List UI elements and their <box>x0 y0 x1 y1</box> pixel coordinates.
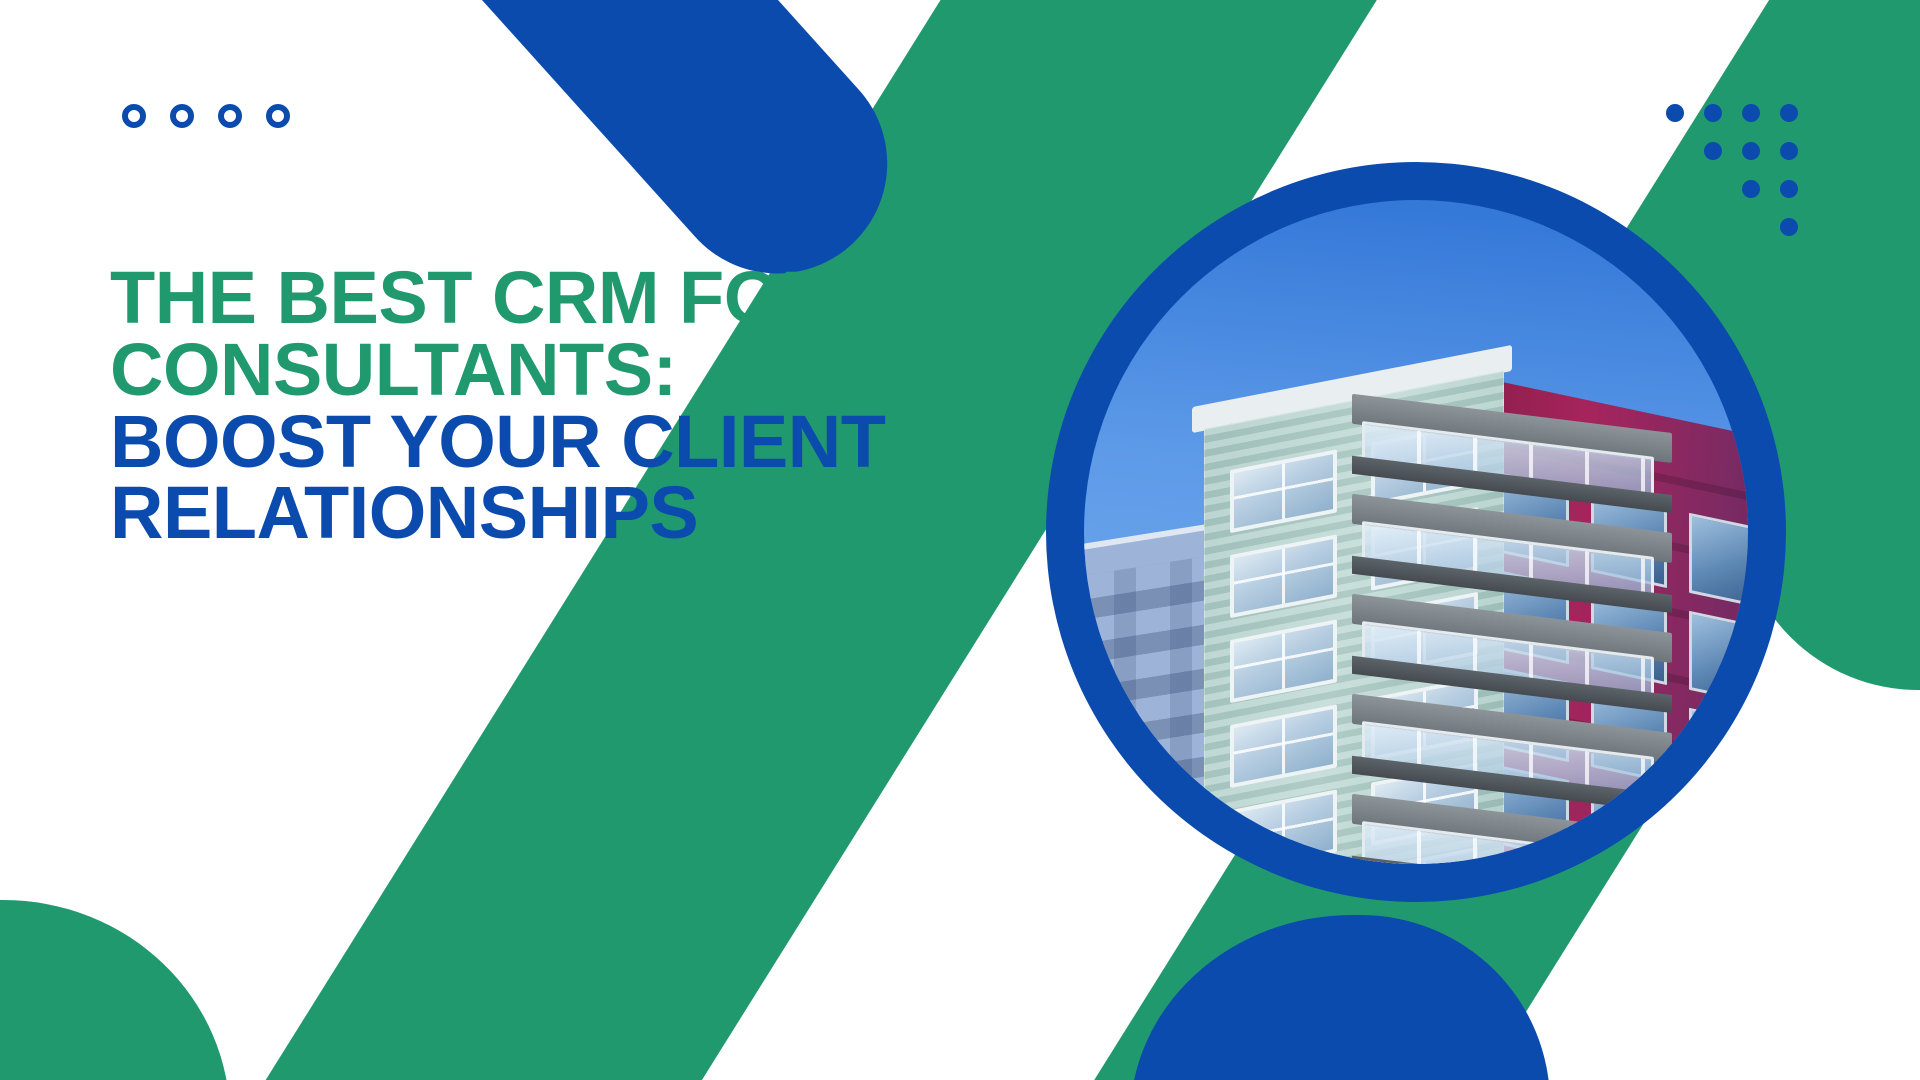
green-blob-bottom-left <box>0 900 230 1080</box>
circle-outline-icon <box>170 104 194 128</box>
circle-outline-icon <box>218 104 242 128</box>
dot-icon <box>1742 142 1760 160</box>
circle-outline-row <box>122 104 290 128</box>
balcony <box>1352 494 1672 611</box>
dot-icon <box>1780 180 1798 198</box>
dot-row <box>1666 104 1798 122</box>
page-title-line-2: BOOST YOUR CLIENT RELATIONSHIPS <box>110 406 930 550</box>
dot-icon <box>1780 218 1798 236</box>
circular-photo-frame <box>1046 162 1786 902</box>
dot-icon <box>1742 180 1760 198</box>
page-title: THE BEST CRM FOR CONSULTANTS: BOOST YOUR… <box>110 262 930 549</box>
balcony <box>1352 694 1672 811</box>
dot-icon <box>1742 104 1760 122</box>
dot-icon <box>1704 142 1722 160</box>
balcony-stack <box>1352 394 1682 864</box>
dot-row <box>1666 218 1798 236</box>
dot-icon <box>1666 104 1684 122</box>
dot-icon <box>1780 104 1798 122</box>
page-title-line-1: THE BEST CRM FOR CONSULTANTS: <box>110 262 930 406</box>
dot-row <box>1666 142 1798 160</box>
building-photo <box>1084 200 1748 864</box>
poster-canvas: THE BEST CRM FOR CONSULTANTS: BOOST YOUR… <box>0 0 1920 1080</box>
circle-outline-icon <box>266 104 290 128</box>
triangular-dot-grid <box>1666 104 1798 236</box>
dot-row <box>1666 180 1798 198</box>
circle-outline-icon <box>122 104 146 128</box>
dot-icon <box>1704 104 1722 122</box>
dot-icon <box>1780 142 1798 160</box>
balcony <box>1352 594 1672 711</box>
